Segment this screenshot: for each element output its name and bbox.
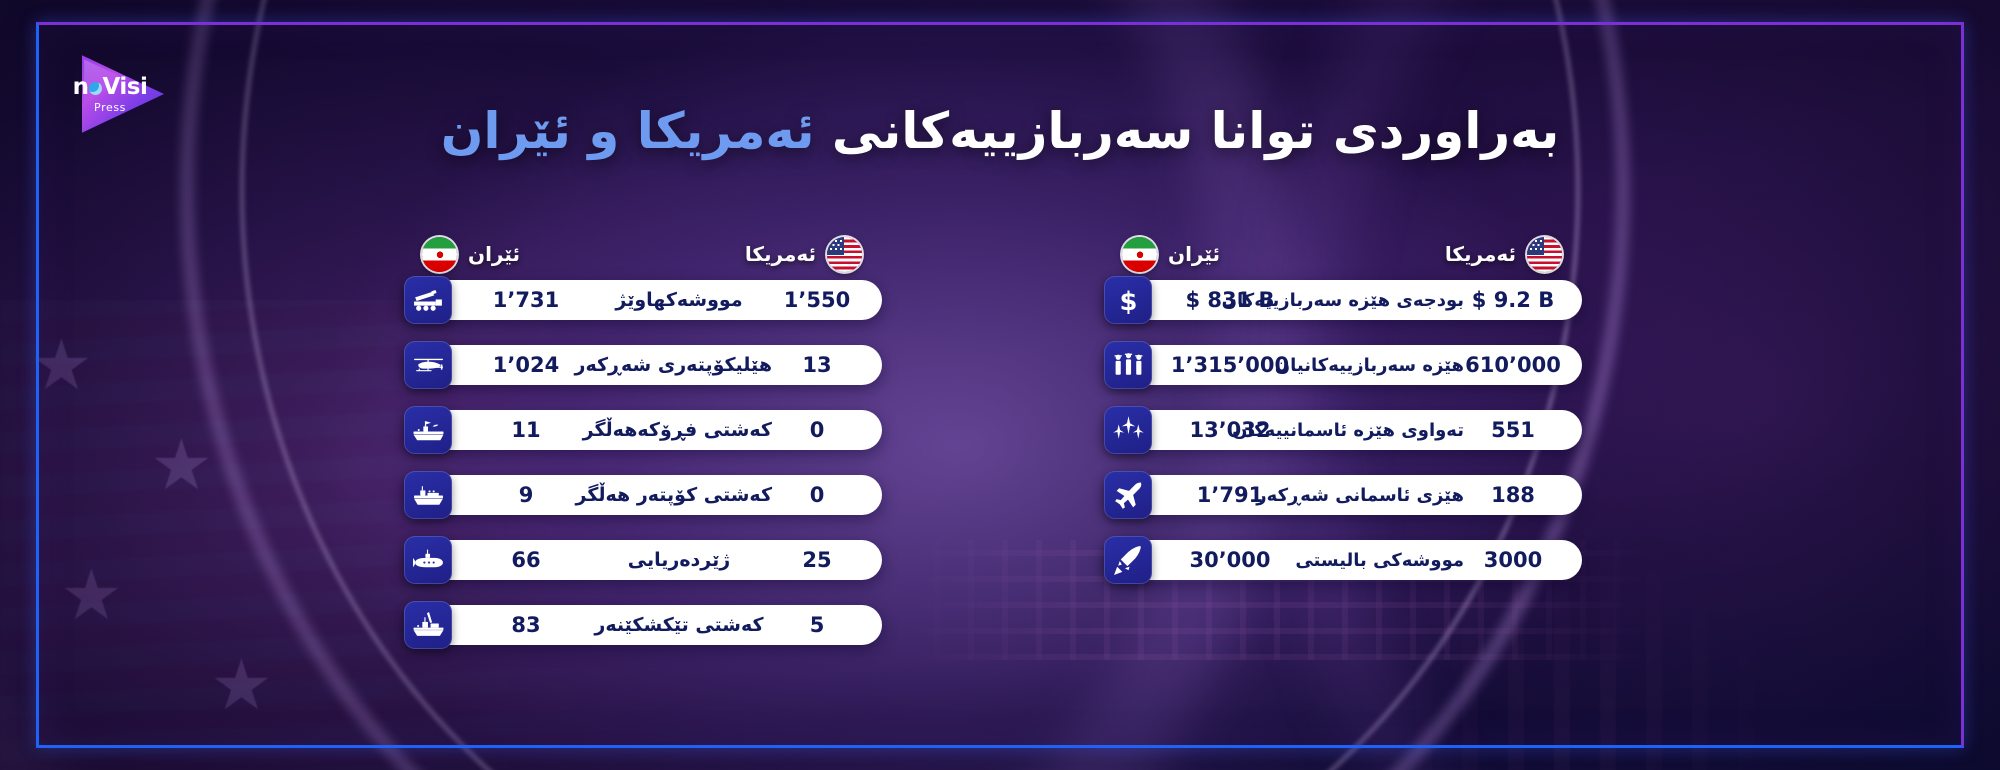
star-watermark: ★ (150, 430, 213, 500)
row-label: تەواوی هێزە ئاسمانییەکان (1300, 420, 1464, 441)
star-watermark: ★ (60, 560, 123, 630)
table-row: 1٬731مووشەکهاوێژ1٬550 (404, 280, 882, 320)
table-row: 1٬315٬000هێزە سەربازییەکانیان610٬000 (1104, 345, 1582, 385)
star-watermark: ★ (30, 330, 93, 400)
header-country-usa: ئەمریکا (1445, 228, 1562, 280)
row-label: هێزی ئاسمانی شەڕکەر (1300, 485, 1464, 506)
table-row: 30٬000مووشەکی باليستی3000 (1104, 540, 1582, 580)
dollar-budget-icon: $ (1104, 276, 1152, 324)
logo-dot-icon (89, 82, 102, 95)
table-row: 11کەشتی فڕۆکەهەڵگر0 (404, 410, 882, 450)
attack-helicopter-icon (404, 341, 452, 389)
row-label: هێلیکۆپتەری شەڕکەر (586, 354, 772, 376)
row-label: ژێردەریایی (586, 549, 772, 571)
submarine-icon (404, 536, 452, 584)
left-table-rows: 1٬731مووشەکهاوێژ1٬5501٬024هێلیکۆپتەری شە… (404, 280, 882, 670)
right-table-header: ئەمریکا ئێران (1104, 228, 1582, 280)
row-value-usa: 1٬024 (466, 353, 586, 377)
destroyer-ship-icon (404, 601, 452, 649)
page-title: بەراوردی توانا سەربازییەکانی ئەمریکا و ئ… (0, 102, 2000, 160)
logo-wordmark: Visin Press (73, 76, 148, 113)
header-label-usa: ئەمریکا (1445, 242, 1516, 266)
title-highlight-part: ئەمریکا و ئێران (441, 102, 815, 160)
row-value-usa: 66 (466, 548, 586, 572)
table-row: 1٬024هێلیکۆپتەری شەڕکەر13 (404, 345, 882, 385)
right-comparison-table: ئەمریکا ئێران $$ 831 Bبودجەی هێزە سەرباز… (1104, 228, 1582, 605)
header-label-usa: ئەمریکا (745, 242, 816, 266)
logo-name-main: Visi (103, 76, 148, 99)
infographic-canvas: ★ ★ ★ ★ Visin Press بەراوردی توانا سەربا… (0, 0, 2000, 770)
table-row: 1٬791هێزی ئاسمانی شەڕکەر188 (1104, 475, 1582, 515)
star-watermark: ★ (210, 650, 273, 720)
row-value-usa: 83 (466, 613, 586, 637)
row-value-iran: 0 (762, 418, 872, 442)
row-value-iran: 610٬000 (1454, 353, 1572, 377)
table-row: $$ 831 Bبودجەی هێزە سەربازییەکان$ 9.2 B (1104, 280, 1582, 320)
row-label: مووشەکی باليستی (1300, 550, 1464, 571)
row-value-usa: 30٬000 (1166, 548, 1294, 572)
table-row: 9کەشتی کۆپتەر هەڵگر0 (404, 475, 882, 515)
table-row: 13٬032تەواوی هێزە ئاسمانییەکان551 (1104, 410, 1582, 450)
logo-subtitle: Press (73, 102, 148, 113)
table-row: 66ژێردەریایی25 (404, 540, 882, 580)
row-value-iran: 5 (762, 613, 872, 637)
row-value-usa: 1٬731 (466, 288, 586, 312)
row-value-iran: $ 9.2 B (1454, 288, 1572, 312)
row-value-iran: 25 (762, 548, 872, 572)
flag-iran-icon (422, 237, 457, 272)
fighter-jet-icon (1104, 471, 1152, 519)
flag-usa-icon (1527, 237, 1562, 272)
row-value-iran: 0 (762, 483, 872, 507)
left-table-header: ئەمریکا ئێران (404, 228, 882, 280)
row-value-usa: 11 (466, 418, 586, 442)
table-row: 83کەشتی تێکشکێنەر5 (404, 605, 882, 645)
row-label: کەشتی کۆپتەر هەڵگر (586, 484, 772, 506)
row-label: مووشەکهاوێژ (586, 289, 772, 311)
aircraft-carrier-icon (404, 406, 452, 454)
svg-text:$: $ (1119, 286, 1137, 316)
helicopter-carrier-icon (404, 471, 452, 519)
row-value-usa: 9 (466, 483, 586, 507)
ballistic-missile-icon (1104, 536, 1152, 584)
row-value-iran: 3000 (1454, 548, 1572, 572)
right-table-rows: $$ 831 Bبودجەی هێزە سەربازییەکان$ 9.2 B1… (1104, 280, 1582, 605)
left-comparison-table: ئەمریکا ئێران 1٬731مووشەکهاوێژ1٬5501٬024… (404, 228, 882, 670)
row-label: بودجەی هێزە سەربازییەکان (1300, 290, 1464, 311)
row-label: کەشتی تێکشکێنەر (586, 614, 772, 636)
row-value-iran: 551 (1454, 418, 1572, 442)
flag-iran-icon (1122, 237, 1157, 272)
logo-name-tail: n (73, 76, 89, 99)
row-label: هێزە سەربازییەکانیان (1300, 355, 1464, 376)
header-country-iran: ئێران (422, 228, 520, 280)
row-value-iran: 188 (1454, 483, 1572, 507)
header-country-iran: ئێران (1122, 228, 1220, 280)
soldiers-group-icon (1104, 341, 1152, 389)
title-plain-part: بەراوردی توانا سەربازییەکانی (815, 102, 1560, 160)
header-country-usa: ئەمریکا (745, 228, 862, 280)
header-label-iran: ئێران (1168, 242, 1220, 266)
row-value-iran: 1٬550 (762, 288, 872, 312)
rocket-launcher-truck-icon (404, 276, 452, 324)
flag-usa-icon (827, 237, 862, 272)
row-label: کەشتی فڕۆکەهەڵگر (586, 419, 772, 441)
row-value-iran: 13 (762, 353, 872, 377)
header-label-iran: ئێران (468, 242, 520, 266)
air-force-fleet-icon (1104, 406, 1152, 454)
